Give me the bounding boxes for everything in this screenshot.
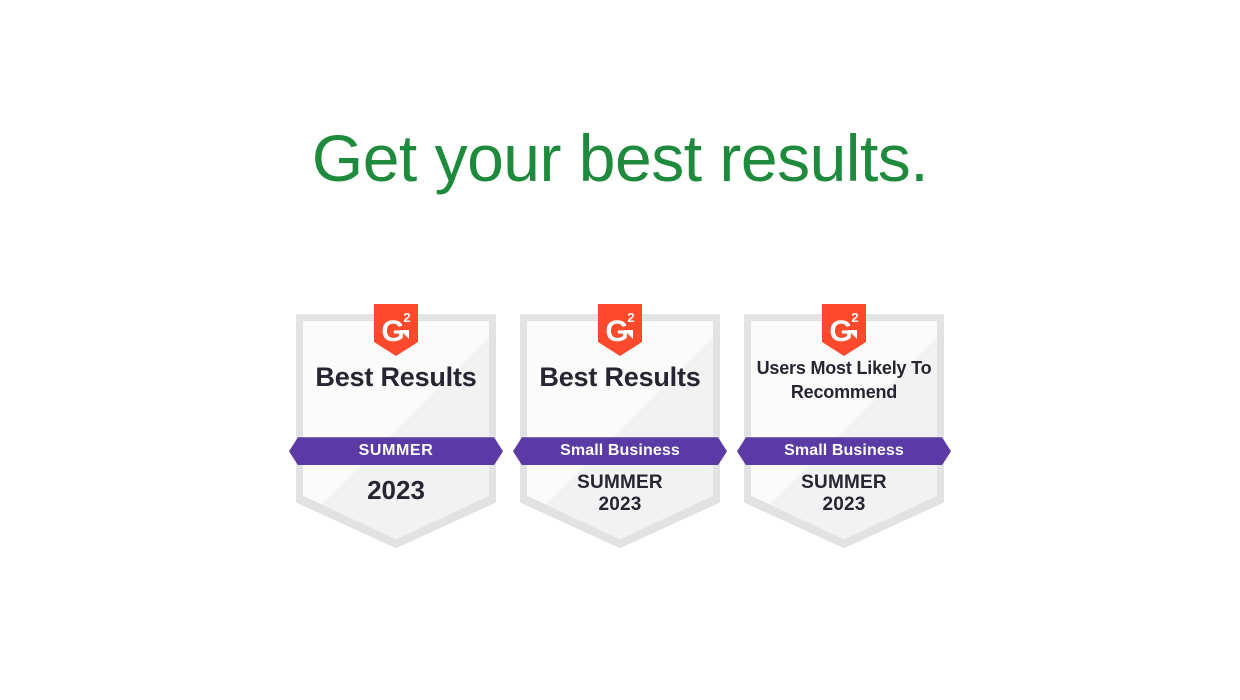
badge-title: Best Results xyxy=(532,361,708,394)
badge-title-line: Likely To xyxy=(856,358,931,378)
svg-text:G: G xyxy=(605,315,628,348)
g2-badge[interactable]: G 2 Best Results Small Business SUMMER 2… xyxy=(520,304,720,550)
svg-text:2: 2 xyxy=(403,310,410,325)
badge-title-line: Users Most xyxy=(757,358,852,378)
g2-badge[interactable]: G 2 Users Most Likely To Recommend Small… xyxy=(744,304,944,550)
page-title: Get your best results. xyxy=(312,118,928,198)
badge-title-line: Best xyxy=(315,362,373,392)
badge-title: Best Results xyxy=(308,361,484,394)
badge-title-line: Recommend xyxy=(791,382,897,402)
badge-title-line: Best xyxy=(539,362,597,392)
badge-title-line: Results xyxy=(380,362,476,392)
svg-text:G: G xyxy=(829,315,852,348)
badge-title: Users Most Likely To Recommend xyxy=(756,356,932,404)
svg-text:G: G xyxy=(381,315,404,348)
g2-badges-row: G 2 Best Results SUMMER 2023 xyxy=(296,304,944,550)
g2-logo-icon: G 2 xyxy=(374,304,418,356)
badge-title-line: Results xyxy=(604,362,700,392)
svg-text:2: 2 xyxy=(627,310,634,325)
g2-logo-icon: G 2 xyxy=(822,304,866,356)
svg-text:2: 2 xyxy=(851,310,858,325)
g2-badge[interactable]: G 2 Best Results SUMMER 2023 xyxy=(296,304,496,550)
g2-logo-icon: G 2 xyxy=(598,304,642,356)
page-root: Get your best results. G 2 Best Results xyxy=(0,0,1240,700)
